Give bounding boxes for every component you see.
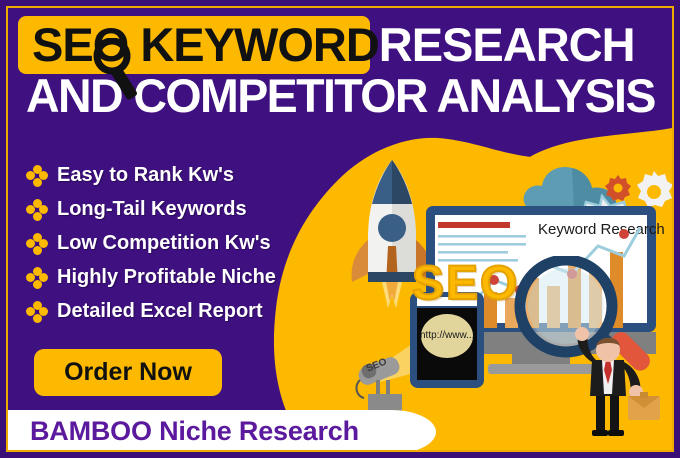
feature-label: Detailed Excel Report [57, 300, 263, 323]
clover-bullet-icon [26, 199, 48, 221]
list-item: Long-Tail Keywords [26, 196, 346, 223]
feature-label: Low Competition Kw's [57, 232, 271, 255]
businessman-figure [556, 326, 662, 438]
feature-list: Easy to Rank Kw's Long-Tail Keywords Low… [26, 162, 346, 332]
list-item: Highly Profitable Niche [26, 264, 346, 291]
feature-label: Highly Profitable Niche [57, 266, 276, 289]
clover-bullet-icon [26, 233, 48, 255]
feature-label: Easy to Rank Kw's [57, 164, 234, 187]
order-now-button[interactable]: Order Now [34, 349, 222, 396]
seo-service-banner: SEO KEYWORDRESEARCH AND COMPETITOR ANALY… [0, 0, 680, 458]
list-item: Detailed Excel Report [26, 298, 346, 325]
feature-label: Long-Tail Keywords [57, 198, 247, 221]
seo-word-graphic: SEO [412, 256, 519, 311]
list-item: Easy to Rank Kw's [26, 162, 346, 189]
list-item: Low Competition Kw's [26, 230, 346, 257]
tablet-url-text: http://www... [420, 330, 474, 341]
magnifying-glass-icon [92, 38, 152, 100]
title-keyword-part: SEO KEYWORD [32, 18, 379, 71]
brand-name: BAMBOO Niche Research [30, 416, 359, 447]
clover-bullet-icon [26, 267, 48, 289]
clover-bullet-icon [26, 301, 48, 323]
title-research-part: RESEARCH [379, 18, 635, 71]
clover-bullet-icon [26, 165, 48, 187]
banner-inner-panel: SEO KEYWORDRESEARCH AND COMPETITOR ANALY… [8, 8, 672, 450]
